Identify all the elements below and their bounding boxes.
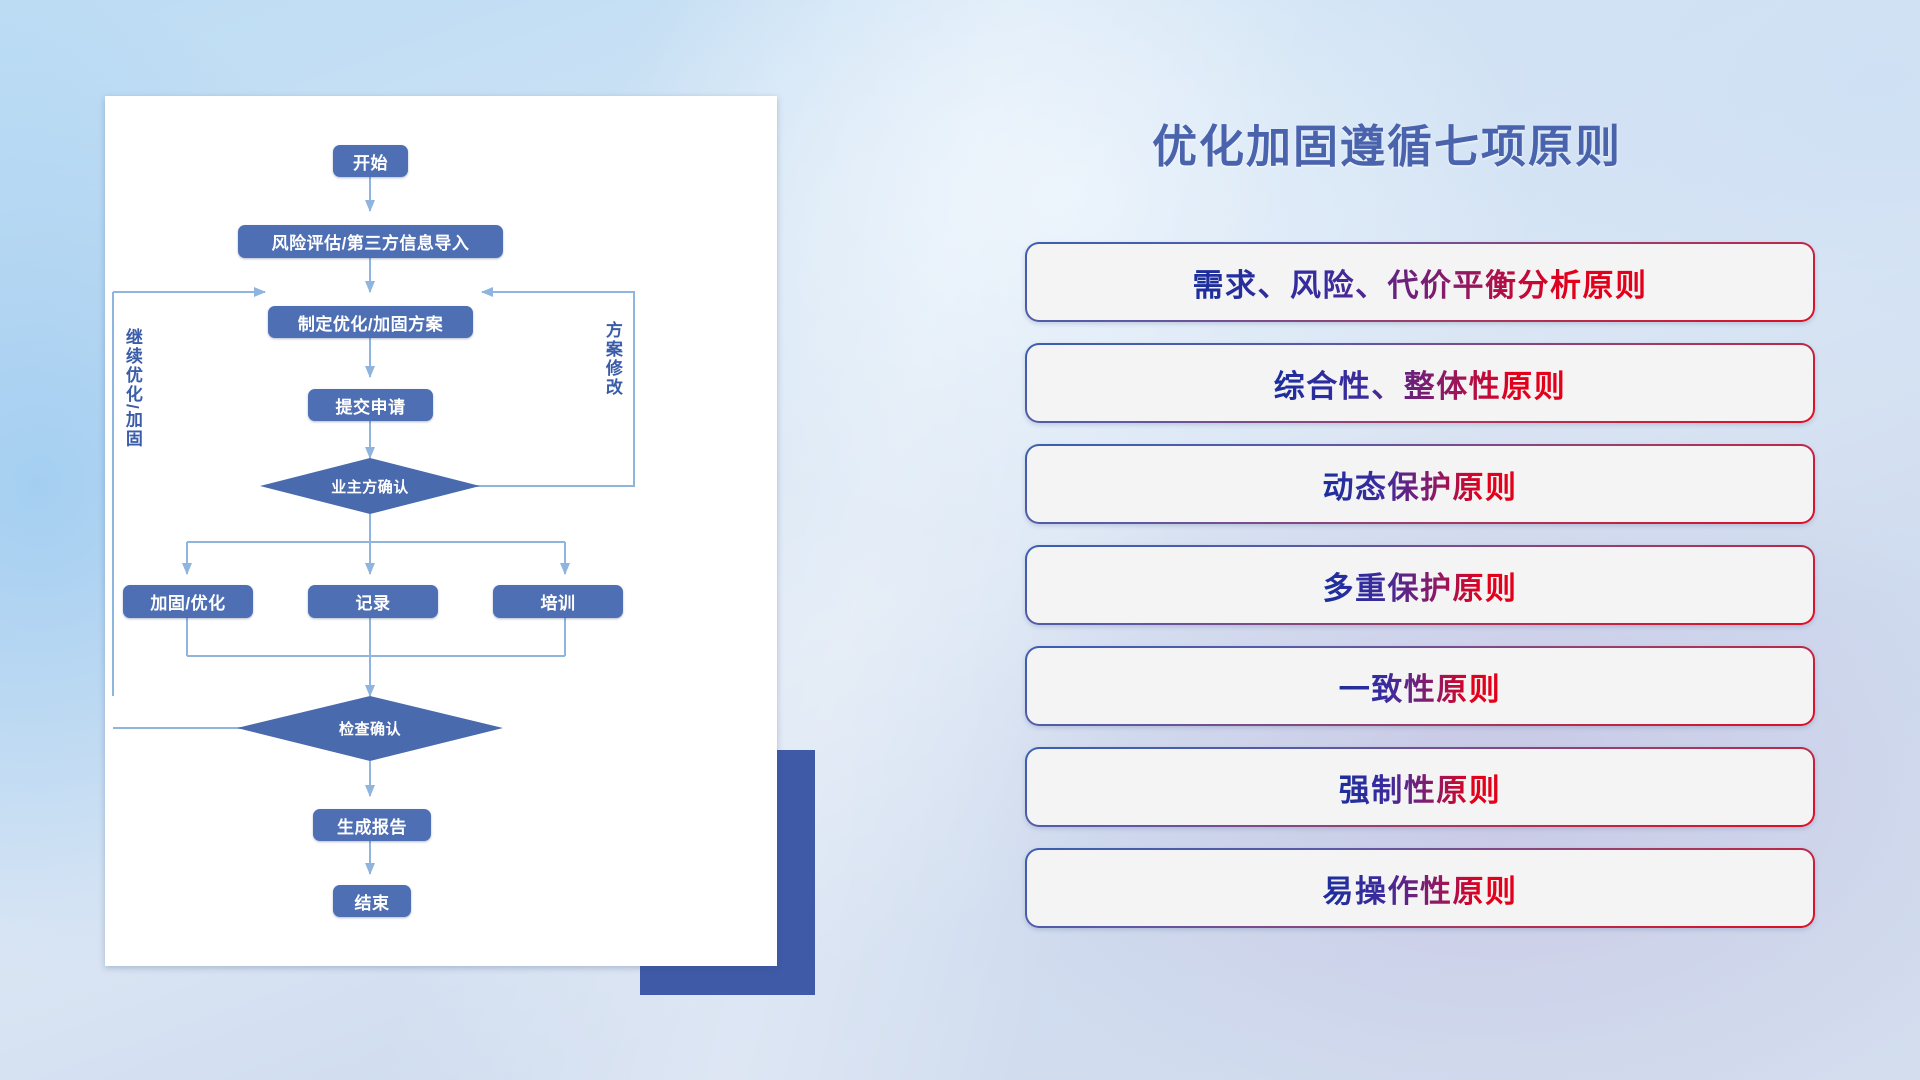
principle-label: 强制性原则 [1339,765,1502,810]
principle-label: 动态保护原则 [1323,462,1518,507]
principle-label: 易操作性原则 [1323,866,1518,911]
principle-label: 多重保护原则 [1323,563,1518,608]
flow-node-owner-confirm[interactable]: 业主方确认 [260,458,480,515]
principle-card[interactable]: 一致性原则 [1025,646,1815,726]
flow-loop-label-right: 方案修改 [603,321,621,397]
principle-label: 一致性原则 [1339,664,1502,709]
principle-card-inner: 一致性原则 [1027,648,1813,724]
flowchart-card: 开始 风险评估/第三方信息导入 制定优化/加固方案 提交申请 业主方确认 加固/… [105,96,777,966]
flow-node-submit-application[interactable]: 提交申请 [308,389,433,421]
flow-node-start[interactable]: 开始 [333,145,408,177]
principle-card-inner: 易操作性原则 [1027,850,1813,926]
principle-card-inner: 综合性、整体性原则 [1027,345,1813,421]
principle-card[interactable]: 多重保护原则 [1025,545,1815,625]
principle-label: 需求、风险、代价平衡分析原则 [1193,260,1648,305]
flow-node-make-plan[interactable]: 制定优化/加固方案 [268,306,473,338]
flow-node-end[interactable]: 结束 [333,885,411,917]
page-title: 优化加固遵循七项原则 [1152,110,1622,175]
principle-card-inner: 动态保护原则 [1027,446,1813,522]
principle-card[interactable]: 需求、风险、代价平衡分析原则 [1025,242,1815,322]
principles-pane: 优化加固遵循七项原则 需求、风险、代价平衡分析原则 综合性、整体性原则 动态保护… [1010,0,1920,1080]
flow-node-owner-confirm-label: 业主方确认 [260,458,480,515]
principles-list: 需求、风险、代价平衡分析原则 综合性、整体性原则 动态保护原则 多重保护原则 一… [1025,242,1815,949]
principle-card[interactable]: 易操作性原则 [1025,848,1815,928]
principle-card-inner: 多重保护原则 [1027,547,1813,623]
principle-card-inner: 需求、风险、代价平衡分析原则 [1027,244,1813,320]
principle-card[interactable]: 动态保护原则 [1025,444,1815,524]
flow-loop-label-left: 继续优化/加固 [123,328,141,449]
flow-node-risk-assessment[interactable]: 风险评估/第三方信息导入 [238,225,503,258]
flow-node-reinforce-optimize[interactable]: 加固/优化 [123,585,253,618]
principle-card[interactable]: 综合性、整体性原则 [1025,343,1815,423]
principle-card[interactable]: 强制性原则 [1025,747,1815,827]
flow-node-check-confirm-label: 检查确认 [237,696,503,761]
flow-node-check-confirm[interactable]: 检查确认 [237,696,503,761]
principle-card-inner: 强制性原则 [1027,749,1813,825]
flow-node-generate-report[interactable]: 生成报告 [313,809,431,841]
flow-node-training[interactable]: 培训 [493,585,623,618]
principle-label: 综合性、整体性原则 [1274,361,1567,406]
flow-node-record[interactable]: 记录 [308,585,438,618]
